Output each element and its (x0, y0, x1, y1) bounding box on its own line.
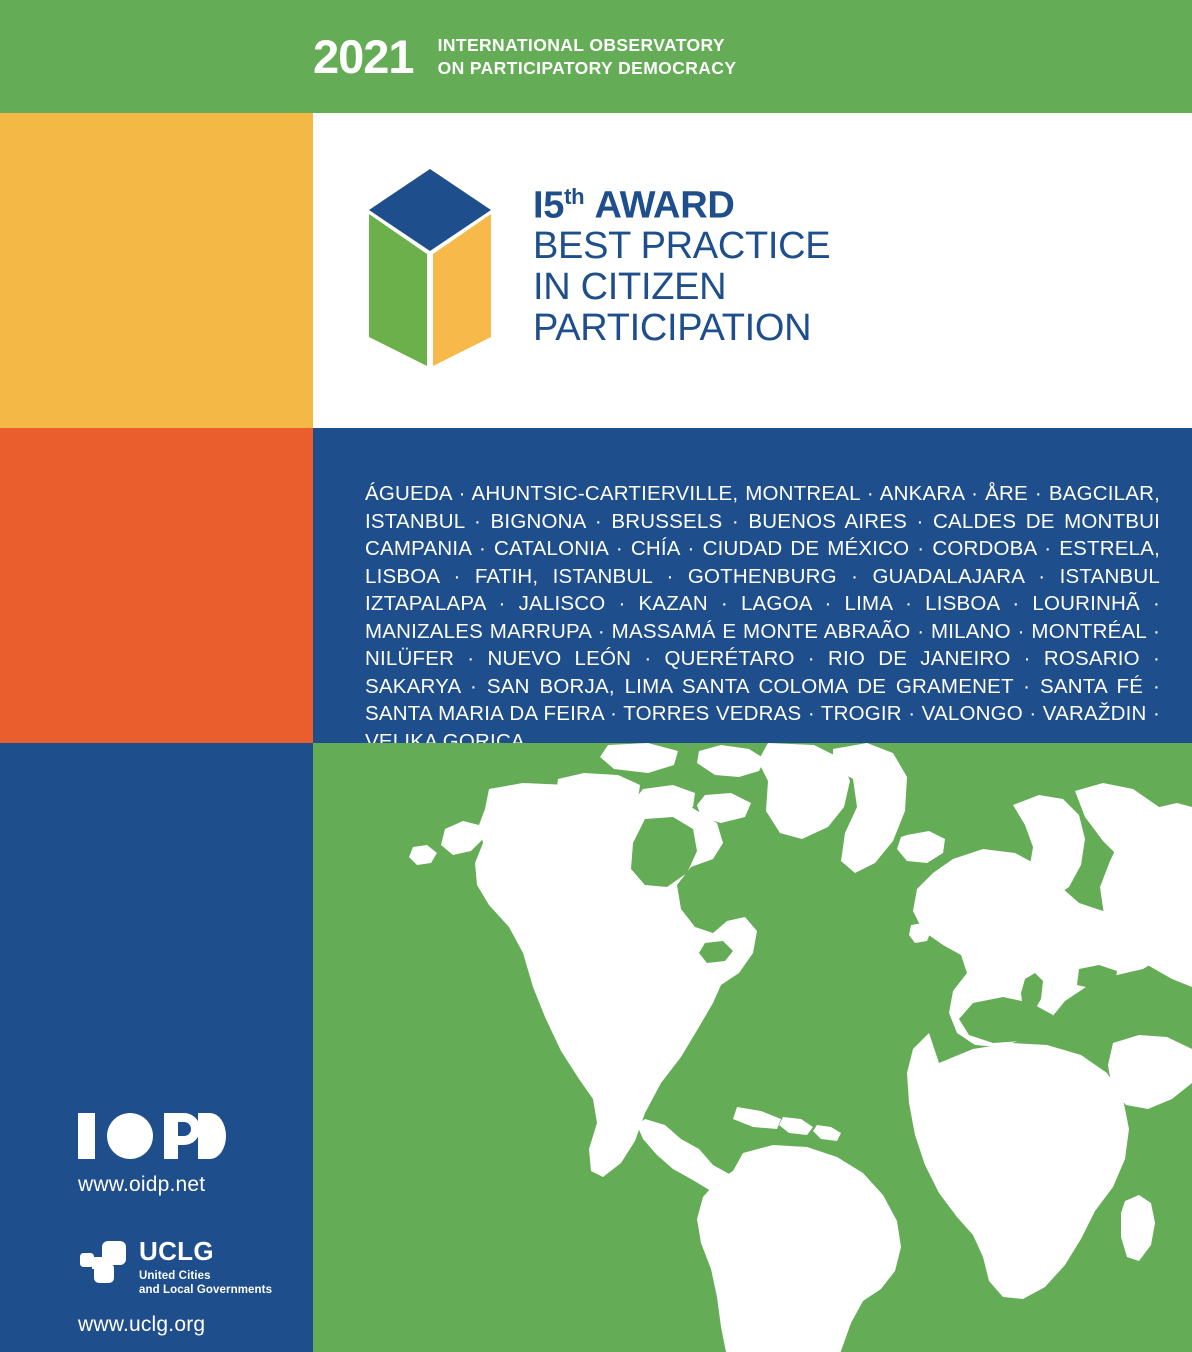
iopd-wordmark-icon (78, 1113, 226, 1164)
award-subtitle-line-2: IN CITIZEN (533, 267, 830, 308)
color-block-orange (0, 428, 313, 743)
uclg-name: UCLG (139, 1238, 272, 1264)
uclg-logo-row: UCLG United Cities and Local Governments (78, 1238, 272, 1298)
uclg-squares-icon (78, 1241, 128, 1290)
uclg-tagline-line-1: United Cities (139, 1269, 272, 1283)
iopd-logo-block: www.oidp.net (78, 1113, 226, 1197)
award-headline: I5th AWARD (533, 185, 830, 226)
organisation-line-1: INTERNATIONAL OBSERVATORY (438, 34, 737, 56)
cities-panel: ÁGUEDA · AHUNTSIC-CARTIERVILLE, MONTREAL… (313, 428, 1192, 743)
uclg-tagline-line-2: and Local Governments (139, 1283, 272, 1297)
organisation-name: INTERNATIONAL OBSERVATORY ON PARTICIPATO… (438, 34, 737, 79)
uclg-logo-block: UCLG United Cities and Local Governments… (78, 1238, 272, 1337)
award-title-group: I5th AWARD BEST PRACTICE IN CITIZEN PART… (533, 165, 830, 349)
poster: 2021 INTERNATIONAL OBSERVATORY ON PARTIC… (0, 0, 1192, 1352)
award-logo-panel: I5th AWARD BEST PRACTICE IN CITIZEN PART… (313, 113, 1192, 428)
world-map-graphic (313, 743, 1192, 1352)
header-content: 2021 INTERNATIONAL OBSERVATORY ON PARTIC… (313, 33, 736, 80)
header-band: 2021 INTERNATIONAL OBSERVATORY ON PARTIC… (0, 0, 1192, 113)
organisation-line-2: ON PARTICIPATORY DEMOCRACY (438, 57, 737, 79)
award-ordinal-suffix: th (564, 184, 584, 209)
award-edition-number: I5 (533, 185, 564, 227)
uclg-url[interactable]: www.uclg.org (78, 1313, 272, 1337)
iopd-cube-icon (365, 165, 495, 370)
award-word: AWARD (595, 185, 735, 227)
uclg-tagline: United Cities and Local Governments (139, 1269, 272, 1298)
iopd-url[interactable]: www.oidp.net (78, 1173, 226, 1197)
color-block-yellow (0, 113, 313, 428)
cities-list: ÁGUEDA · AHUNTSIC-CARTIERVILLE, MONTREAL… (365, 480, 1160, 755)
year-label: 2021 (313, 33, 414, 80)
world-map (313, 743, 1192, 1352)
award-subtitle-line-1: BEST PRACTICE (533, 226, 830, 267)
award-logo-row: I5th AWARD BEST PRACTICE IN CITIZEN PART… (365, 165, 830, 370)
award-subtitle-line-3: PARTICIPATION (533, 308, 830, 349)
uclg-wordmark: UCLG United Cities and Local Governments (139, 1238, 272, 1298)
